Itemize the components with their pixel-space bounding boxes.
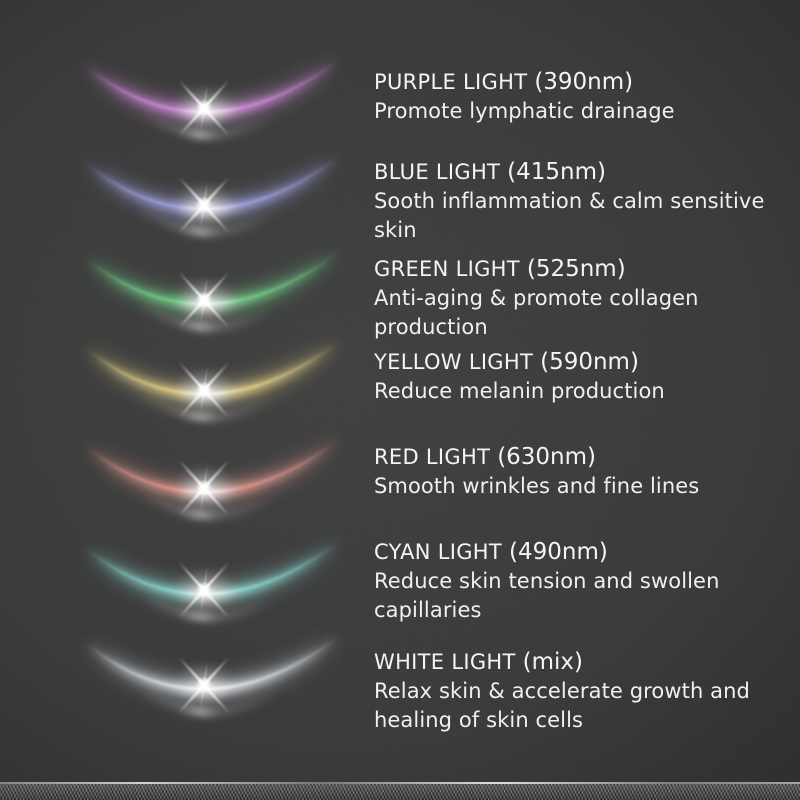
light-streak-cyan xyxy=(78,528,346,652)
sparkle-ray xyxy=(200,465,208,511)
sparkle-ray xyxy=(178,176,230,233)
sparkle-ray xyxy=(178,459,230,516)
sparkle-ray xyxy=(200,182,208,228)
light-streak-yellow xyxy=(78,328,346,452)
sparkle-ray xyxy=(178,79,230,136)
sparkle-star-icon xyxy=(156,252,252,348)
sparkle-ray xyxy=(200,567,208,613)
light-mode-text-green: GREEN LIGHT (525nm)Anti-aging & promote … xyxy=(374,255,774,342)
sparkle-glow xyxy=(173,465,235,511)
crescent-arc-icon xyxy=(78,238,346,362)
light-mode-name: BLUE LIGHT xyxy=(374,160,500,184)
sparkle-core xyxy=(196,582,212,598)
sparkle-star-icon xyxy=(156,342,252,438)
light-mode-title: BLUE LIGHT (415nm) xyxy=(374,158,774,187)
light-mode-name: RED LIGHT xyxy=(374,445,490,469)
crescent-arc-icon xyxy=(78,528,346,652)
sparkle-ray xyxy=(178,361,230,418)
light-mode-text-blue: BLUE LIGHT (415nm)Sooth inflammation & c… xyxy=(374,158,774,245)
light-mode-wavelength: (390nm) xyxy=(534,69,633,95)
crescent-arc-icon xyxy=(78,623,346,747)
sparkle-core xyxy=(196,480,212,496)
light-streak-purple xyxy=(78,46,346,170)
sparkle-glow xyxy=(173,85,235,131)
sparkle-star-icon xyxy=(156,637,252,733)
led-light-therapy-panel: PURPLE LIGHT (390nm)Promote lymphatic dr… xyxy=(0,0,800,800)
light-mode-name: PURPLE LIGHT xyxy=(374,70,527,94)
light-streak-blue xyxy=(78,143,346,267)
light-mode-description: Sooth inflammation & calm sensitive skin xyxy=(374,187,774,245)
light-mode-name: WHITE LIGHT xyxy=(374,650,516,674)
light-mode-title: CYAN LIGHT (490nm) xyxy=(374,538,774,567)
light-mode-text-white: WHITE LIGHT (mix)Relax skin & accelerate… xyxy=(374,648,774,735)
light-mode-title: GREEN LIGHT (525nm) xyxy=(374,255,774,284)
sparkle-glow xyxy=(173,182,235,228)
sparkle-ray xyxy=(200,662,208,708)
sparkle-core xyxy=(196,292,212,308)
light-mode-text-purple: PURPLE LIGHT (390nm)Promote lymphatic dr… xyxy=(374,68,774,126)
sparkle-star-icon xyxy=(156,542,252,638)
light-mode-description: Smooth wrinkles and fine lines xyxy=(374,472,774,501)
sparkle-ray xyxy=(178,79,230,136)
sparkle-core xyxy=(196,197,212,213)
light-mode-wavelength: (590nm) xyxy=(540,349,639,375)
light-mode-wavelength: (415nm) xyxy=(507,159,606,185)
light-mode-text-cyan: CYAN LIGHT (490nm)Reduce skin tension an… xyxy=(374,538,774,625)
light-mode-title: RED LIGHT (630nm) xyxy=(374,443,774,472)
light-mode-text-red: RED LIGHT (630nm)Smooth wrinkles and fin… xyxy=(374,443,774,501)
sparkle-glow xyxy=(173,662,235,708)
crescent-arc-icon xyxy=(78,143,346,267)
light-mode-name: GREEN LIGHT xyxy=(374,257,520,281)
panel-bottom-ledge xyxy=(0,784,800,800)
light-streak-green xyxy=(78,238,346,362)
light-mode-wavelength: (630nm) xyxy=(497,444,596,470)
sparkle-ray xyxy=(178,459,230,516)
crescent-arc-icon xyxy=(78,46,346,170)
crescent-arc-icon xyxy=(78,328,346,452)
sparkle-core xyxy=(196,677,212,693)
sparkle-core xyxy=(196,382,212,398)
light-mode-title: PURPLE LIGHT (390nm) xyxy=(374,68,774,97)
sparkle-star-icon xyxy=(156,157,252,253)
light-mode-name: YELLOW LIGHT xyxy=(374,350,533,374)
light-mode-description: Promote lymphatic drainage xyxy=(374,97,774,126)
sparkle-glow xyxy=(173,567,235,613)
sparkle-ray xyxy=(178,561,230,618)
sparkle-ray xyxy=(178,656,230,713)
light-mode-title: WHITE LIGHT (mix) xyxy=(374,648,774,677)
sparkle-star-icon xyxy=(156,440,252,536)
sparkle-star-icon xyxy=(156,60,252,156)
light-mode-wavelength: (490nm) xyxy=(509,539,608,565)
light-mode-name: CYAN LIGHT xyxy=(374,540,502,564)
sparkle-ray xyxy=(178,271,230,328)
sparkle-ray xyxy=(200,277,208,323)
light-streak-white xyxy=(78,623,346,747)
light-mode-description: Reduce skin tension and swollen capillar… xyxy=(374,567,774,625)
sparkle-ray xyxy=(200,85,208,131)
sparkle-ray xyxy=(178,361,230,418)
crescent-arc-icon xyxy=(78,426,346,550)
light-mode-description: Anti-aging & promote collagen production xyxy=(374,284,774,342)
sparkle-ray xyxy=(178,656,230,713)
light-mode-wavelength: (mix) xyxy=(523,649,583,675)
sparkle-glow xyxy=(173,367,235,413)
light-mode-text-yellow: YELLOW LIGHT (590nm)Reduce melanin produ… xyxy=(374,348,774,406)
light-mode-title: YELLOW LIGHT (590nm) xyxy=(374,348,774,377)
sparkle-ray xyxy=(178,561,230,618)
light-streak-red xyxy=(78,426,346,550)
light-mode-description: Relax skin & accelerate growth and heali… xyxy=(374,677,774,735)
sparkle-core xyxy=(196,100,212,116)
light-mode-wavelength: (525nm) xyxy=(527,256,626,282)
sparkle-ray xyxy=(178,271,230,328)
sparkle-ray xyxy=(200,367,208,413)
light-mode-description: Reduce melanin production xyxy=(374,377,774,406)
sparkle-ray xyxy=(178,176,230,233)
sparkle-glow xyxy=(173,277,235,323)
